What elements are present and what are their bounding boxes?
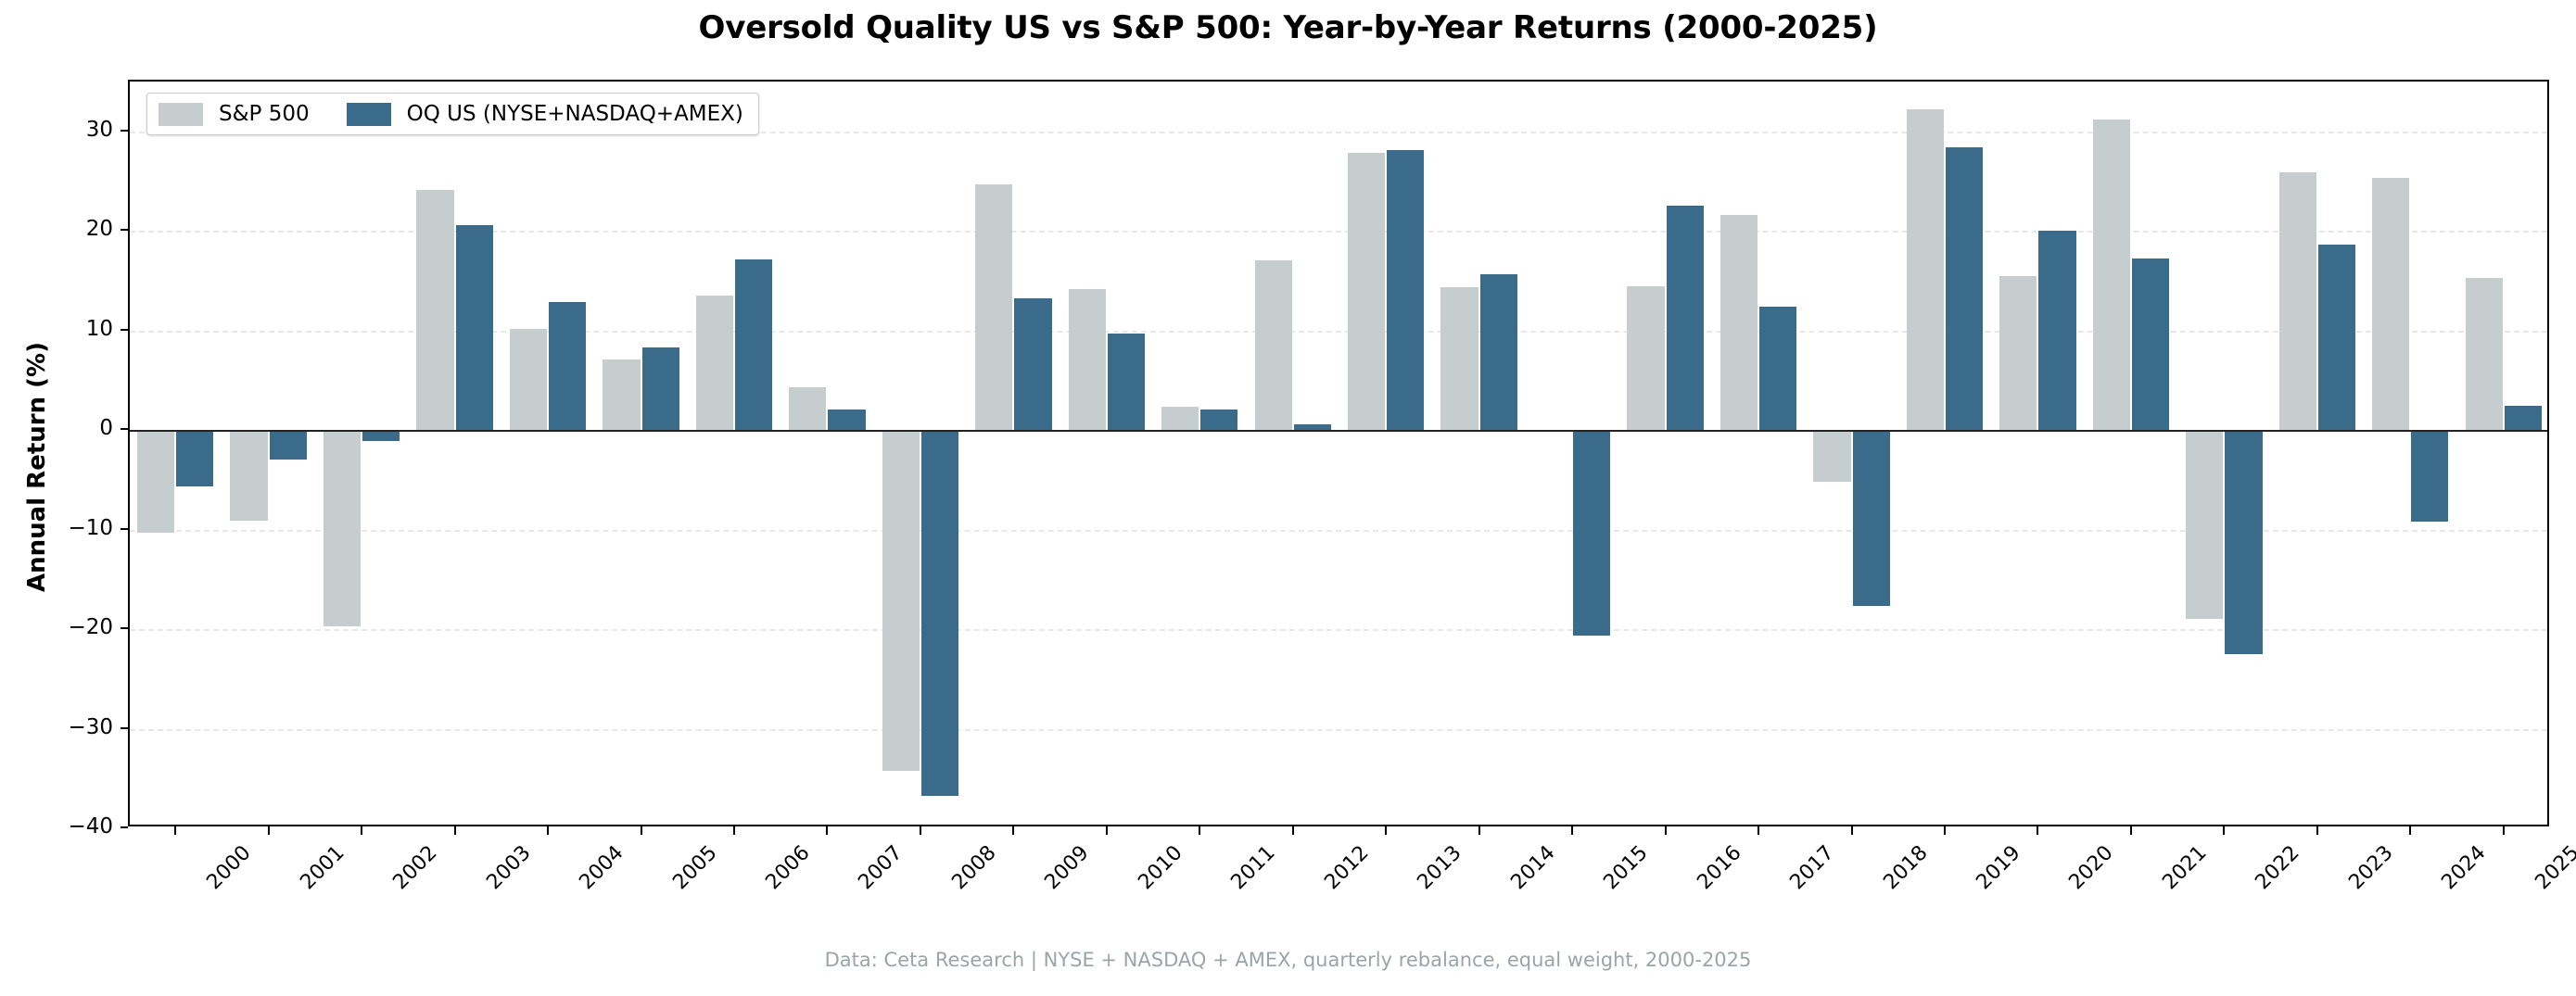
x-tick-label-2003: 2003 — [482, 841, 535, 894]
bar-2007-sp500 — [789, 387, 826, 430]
x-tick-mark — [2409, 826, 2411, 835]
gridline — [130, 729, 2547, 731]
bar-2011-oq-us — [1200, 410, 1237, 431]
bar-2004-sp500 — [510, 329, 547, 431]
bar-2023-oq-us — [2318, 245, 2355, 430]
x-tick-label-2001: 2001 — [296, 841, 349, 894]
bar-2005-sp500 — [603, 359, 640, 430]
y-tick-mark — [121, 627, 128, 629]
x-tick-label-2020: 2020 — [2065, 841, 2118, 894]
bar-2001-sp500 — [230, 430, 267, 521]
bar-2015-oq-us — [1573, 430, 1610, 635]
x-tick-label-2006: 2006 — [761, 841, 814, 894]
bar-2014-sp500 — [1440, 287, 1478, 430]
x-tick-label-2023: 2023 — [2344, 841, 2397, 894]
x-tick-label-2021: 2021 — [2158, 841, 2211, 894]
x-tick-mark — [2503, 826, 2505, 835]
bar-2024-sp500 — [2372, 178, 2409, 430]
bar-2008-oq-us — [921, 430, 958, 795]
bar-2000-sp500 — [137, 430, 174, 533]
bar-2022-oq-us — [2225, 430, 2262, 654]
bar-2010-oq-us — [1108, 334, 1145, 430]
x-tick-mark — [2130, 826, 2132, 835]
y-tick-label: 10 — [0, 317, 113, 341]
bar-2004-oq-us — [549, 302, 586, 431]
x-tick-mark — [1012, 826, 1014, 835]
x-tick-label-2000: 2000 — [203, 841, 256, 894]
x-tick-mark — [733, 826, 735, 835]
y-tick-mark — [121, 229, 128, 231]
x-axis-ticks: 2000200120022003200420052006200720082009… — [128, 826, 2549, 947]
x-tick-mark — [1665, 826, 1667, 835]
bar-2003-sp500 — [416, 190, 453, 430]
bar-2011-sp500 — [1161, 407, 1199, 430]
y-tick-mark — [121, 428, 128, 430]
x-tick-mark — [920, 826, 921, 835]
y-tick-label: −40 — [0, 814, 113, 838]
y-tick-label: −10 — [0, 516, 113, 540]
y-tick-label: 20 — [0, 217, 113, 241]
y-tick-label: 30 — [0, 118, 113, 142]
bar-2013-sp500 — [1348, 153, 1385, 430]
x-tick-mark — [547, 826, 549, 835]
x-tick-mark — [1478, 826, 1480, 835]
chart-title: Oversold Quality US vs S&P 500: Year-by-… — [0, 9, 2576, 46]
bar-2021-sp500 — [2093, 120, 2130, 430]
bar-2018-oq-us — [1853, 430, 1890, 606]
x-tick-label-2004: 2004 — [575, 841, 628, 894]
x-tick-mark — [1199, 826, 1200, 835]
bar-2023-sp500 — [2279, 172, 2316, 430]
x-tick-label-2013: 2013 — [1414, 841, 1466, 894]
bar-2017-oq-us — [1759, 307, 1796, 430]
x-tick-label-2014: 2014 — [1506, 841, 1559, 894]
footer-caption: Data: Ceta Research | NYSE + NASDAQ + AM… — [0, 949, 2576, 971]
bar-2002-sp500 — [324, 430, 361, 626]
x-tick-label-2007: 2007 — [855, 841, 907, 894]
legend-label-oq-us: OQ US (NYSE+NASDAQ+AMEX) — [407, 102, 743, 126]
x-tick-label-2025: 2025 — [2531, 841, 2576, 894]
x-tick-label-2010: 2010 — [1134, 841, 1186, 894]
x-tick-mark — [641, 826, 642, 835]
bar-2013-oq-us — [1387, 150, 1424, 430]
y-tick-label: 0 — [0, 416, 113, 440]
x-tick-label-2022: 2022 — [2252, 841, 2304, 894]
x-tick-label-2019: 2019 — [1972, 841, 2024, 894]
bar-2012-sp500 — [1255, 260, 1292, 430]
x-tick-label-2015: 2015 — [1600, 841, 1653, 894]
legend-swatch-oq-us — [347, 103, 391, 126]
x-tick-mark — [1851, 826, 1853, 835]
zero-line — [130, 430, 2547, 432]
bar-2020-sp500 — [1999, 276, 2037, 431]
bar-2020-oq-us — [2038, 231, 2075, 430]
x-tick-label-2009: 2009 — [1041, 841, 1094, 894]
legend-swatch-sp500 — [159, 103, 203, 126]
x-tick-mark — [2316, 826, 2318, 835]
x-tick-label-2016: 2016 — [1693, 841, 1745, 894]
x-tick-mark — [268, 826, 270, 835]
y-tick-mark — [121, 130, 128, 132]
legend-label-sp500: S&P 500 — [219, 102, 310, 126]
bar-2019-sp500 — [1907, 109, 1944, 430]
bar-2014-oq-us — [1480, 274, 1517, 430]
y-tick-mark — [121, 826, 128, 828]
bar-2006-oq-us — [735, 259, 772, 430]
bar-2010-sp500 — [1069, 289, 1106, 431]
bar-2001-oq-us — [270, 430, 307, 460]
x-tick-label-2002: 2002 — [389, 841, 442, 894]
legend-entry-sp500[interactable]: S&P 500 — [159, 102, 310, 126]
bar-2017-sp500 — [1720, 215, 1758, 430]
x-tick-mark — [2037, 826, 2038, 835]
bar-2024-oq-us — [2411, 430, 2448, 522]
bar-2000-oq-us — [176, 430, 213, 486]
y-tick-mark — [121, 528, 128, 530]
bar-2003-oq-us — [456, 225, 493, 430]
bar-2007-oq-us — [828, 410, 865, 431]
y-tick-mark — [121, 727, 128, 729]
x-tick-mark — [1758, 826, 1759, 835]
bar-2022-sp500 — [2186, 430, 2223, 619]
bar-2025-oq-us — [2505, 406, 2542, 430]
x-tick-mark — [1944, 826, 1946, 835]
bar-2018-sp500 — [1813, 430, 1850, 482]
x-tick-label-2018: 2018 — [1879, 841, 1932, 894]
plot-area — [128, 80, 2549, 826]
x-tick-mark — [826, 826, 828, 835]
x-tick-mark — [174, 826, 176, 835]
x-tick-mark — [1106, 826, 1108, 835]
gridline — [130, 629, 2547, 631]
x-tick-label-2017: 2017 — [1785, 841, 1838, 894]
bar-2025-sp500 — [2466, 278, 2503, 430]
y-tick-label: −30 — [0, 715, 113, 739]
chart-figure: Oversold Quality US vs S&P 500: Year-by-… — [0, 0, 2576, 996]
bar-2009-sp500 — [975, 184, 1012, 430]
bar-2016-oq-us — [1667, 206, 1704, 430]
bar-2008-sp500 — [882, 430, 920, 771]
bar-2006-sp500 — [696, 296, 733, 430]
y-tick-mark — [121, 329, 128, 331]
chart-legend[interactable]: S&P 500 OQ US (NYSE+NASDAQ+AMEX) — [146, 93, 759, 135]
x-tick-label-2008: 2008 — [947, 841, 1000, 894]
bar-2009-oq-us — [1014, 298, 1051, 430]
x-tick-label-2005: 2005 — [668, 841, 721, 894]
bar-2005-oq-us — [642, 347, 679, 430]
x-tick-mark — [454, 826, 456, 835]
x-tick-mark — [2223, 826, 2225, 835]
y-tick-label: −20 — [0, 615, 113, 639]
x-tick-mark — [1292, 826, 1294, 835]
bar-2016-sp500 — [1627, 286, 1664, 430]
x-tick-mark — [1571, 826, 1573, 835]
bar-2021-oq-us — [2132, 258, 2169, 430]
x-tick-mark — [361, 826, 362, 835]
x-tick-label-2011: 2011 — [1227, 841, 1280, 894]
gridline — [130, 530, 2547, 532]
x-tick-label-2024: 2024 — [2438, 841, 2491, 894]
x-tick-mark — [1385, 826, 1387, 835]
legend-entry-oq-us[interactable]: OQ US (NYSE+NASDAQ+AMEX) — [347, 102, 743, 126]
bar-2019-oq-us — [1946, 147, 1983, 430]
x-tick-label-2012: 2012 — [1320, 841, 1373, 894]
